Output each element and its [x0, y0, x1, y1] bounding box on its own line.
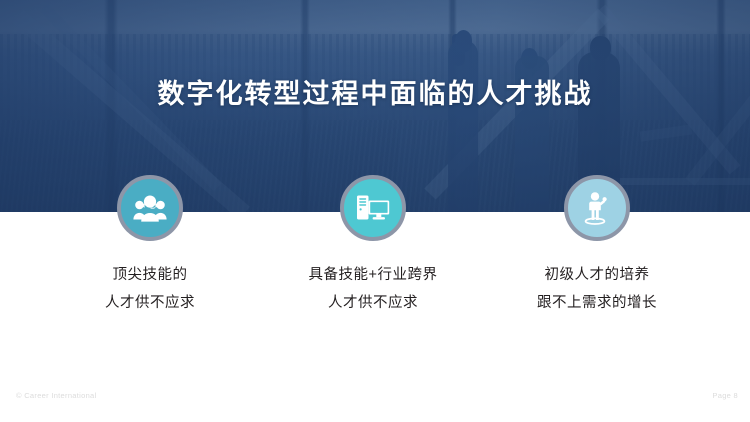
icon-circle-3[interactable]: [564, 175, 630, 241]
copyright-text: © Career International: [16, 391, 97, 400]
slide: 数字化转型过程中面临的人才挑战: [0, 0, 750, 422]
page-number: Page 8: [712, 391, 738, 400]
caption-3: 初级人才的培养 跟不上需求的增长: [482, 262, 712, 317]
caption-3-line-2: 跟不上需求的增长: [482, 290, 712, 318]
caption-1: 顶尖技能的 人才供不应求: [35, 262, 265, 317]
icon-circle-2[interactable]: [340, 175, 406, 241]
caption-3-line-1: 初级人才的培养: [482, 262, 712, 290]
caption-2-line-1: 具备技能+行业跨界: [258, 262, 488, 290]
icon-circle-1[interactable]: [117, 175, 183, 241]
users-group-icon: [133, 194, 167, 222]
standing-person-icon: [582, 191, 612, 225]
slide-title: 数字化转型过程中面临的人才挑战: [0, 78, 750, 110]
desktop-computer-icon: [356, 193, 390, 223]
caption-2: 具备技能+行业跨界 人才供不应求: [258, 262, 488, 317]
caption-2-line-2: 人才供不应求: [258, 290, 488, 318]
caption-1-line-1: 顶尖技能的: [35, 262, 265, 290]
caption-1-line-2: 人才供不应求: [35, 290, 265, 318]
